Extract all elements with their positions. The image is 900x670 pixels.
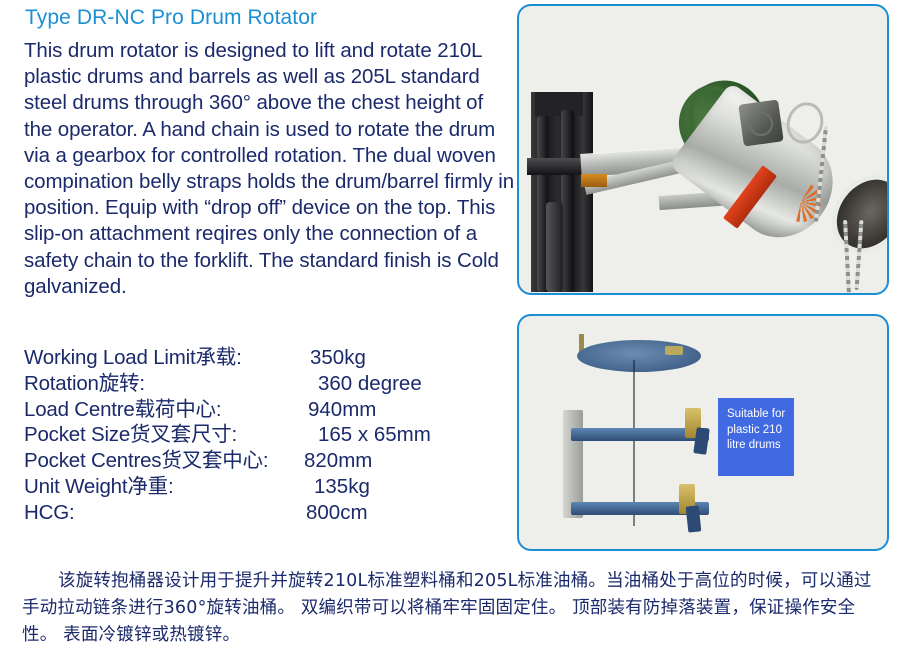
product-photo-panel-top bbox=[517, 4, 889, 295]
spec-row: Pocket Size货叉套尺寸:165 x 65mm bbox=[24, 422, 504, 448]
spec-label: Unit Weight净重: bbox=[24, 474, 282, 500]
spec-label: Pocket Centres货叉套中心: bbox=[24, 448, 282, 474]
spec-value: 360 degree bbox=[282, 371, 422, 397]
product-description: This drum rotator is designed to lift an… bbox=[24, 38, 516, 300]
spec-row: Load Centre载荷中心:940mm bbox=[24, 397, 504, 423]
product-info-column: Type DR-NC Pro Drum Rotator This drum ro… bbox=[0, 0, 510, 560]
drum-bung-cap bbox=[665, 346, 683, 355]
spec-row: Rotation旋转:360 degree bbox=[24, 371, 504, 397]
spec-label: Pocket Size货叉套尺寸: bbox=[24, 422, 282, 448]
blue-drum-lid bbox=[577, 340, 701, 372]
spec-value: 800cm bbox=[282, 500, 368, 526]
chinese-description: 该旋转抱桶器设计用于提升并旋转210L标准塑料桶和205L标准油桶。当油桶处于高… bbox=[22, 568, 884, 649]
spec-row: HCG:800cm bbox=[24, 500, 504, 526]
suitability-callout: Suitable for plastic 210 litre drums bbox=[718, 398, 794, 476]
spec-value: 940mm bbox=[282, 397, 376, 423]
mast-hydraulic-cylinder bbox=[546, 202, 563, 292]
specifications-table: Working Load Limit承载:350kgRotation旋转:360… bbox=[24, 345, 504, 526]
forklift-rotator-illustration bbox=[519, 6, 887, 293]
spec-value: 820mm bbox=[282, 448, 372, 474]
spec-label: Working Load Limit承载: bbox=[24, 345, 282, 371]
page-title: Type DR-NC Pro Drum Rotator bbox=[25, 6, 317, 30]
spec-label: HCG: bbox=[24, 500, 282, 526]
strap-tail-upper bbox=[693, 427, 709, 455]
mast-top-block bbox=[535, 92, 583, 116]
spec-row: Pocket Centres货叉套中心:820mm bbox=[24, 448, 504, 474]
spec-row: Working Load Limit承载:350kg bbox=[24, 345, 504, 371]
spec-row: Unit Weight净重:135kg bbox=[24, 474, 504, 500]
spec-label: Rotation旋转: bbox=[24, 371, 282, 397]
spec-value: 165 x 65mm bbox=[282, 422, 431, 448]
spec-value: 350kg bbox=[282, 345, 366, 371]
strap-tail-lower bbox=[686, 505, 702, 532]
spec-value: 135kg bbox=[282, 474, 370, 500]
product-photo-panel-bottom: Suitable for plastic 210 litre drums bbox=[517, 314, 889, 551]
blue-drum-illustration: Suitable for plastic 210 litre drums bbox=[519, 316, 887, 549]
arm-amber-block bbox=[581, 174, 607, 187]
spec-label: Load Centre载荷中心: bbox=[24, 397, 282, 423]
